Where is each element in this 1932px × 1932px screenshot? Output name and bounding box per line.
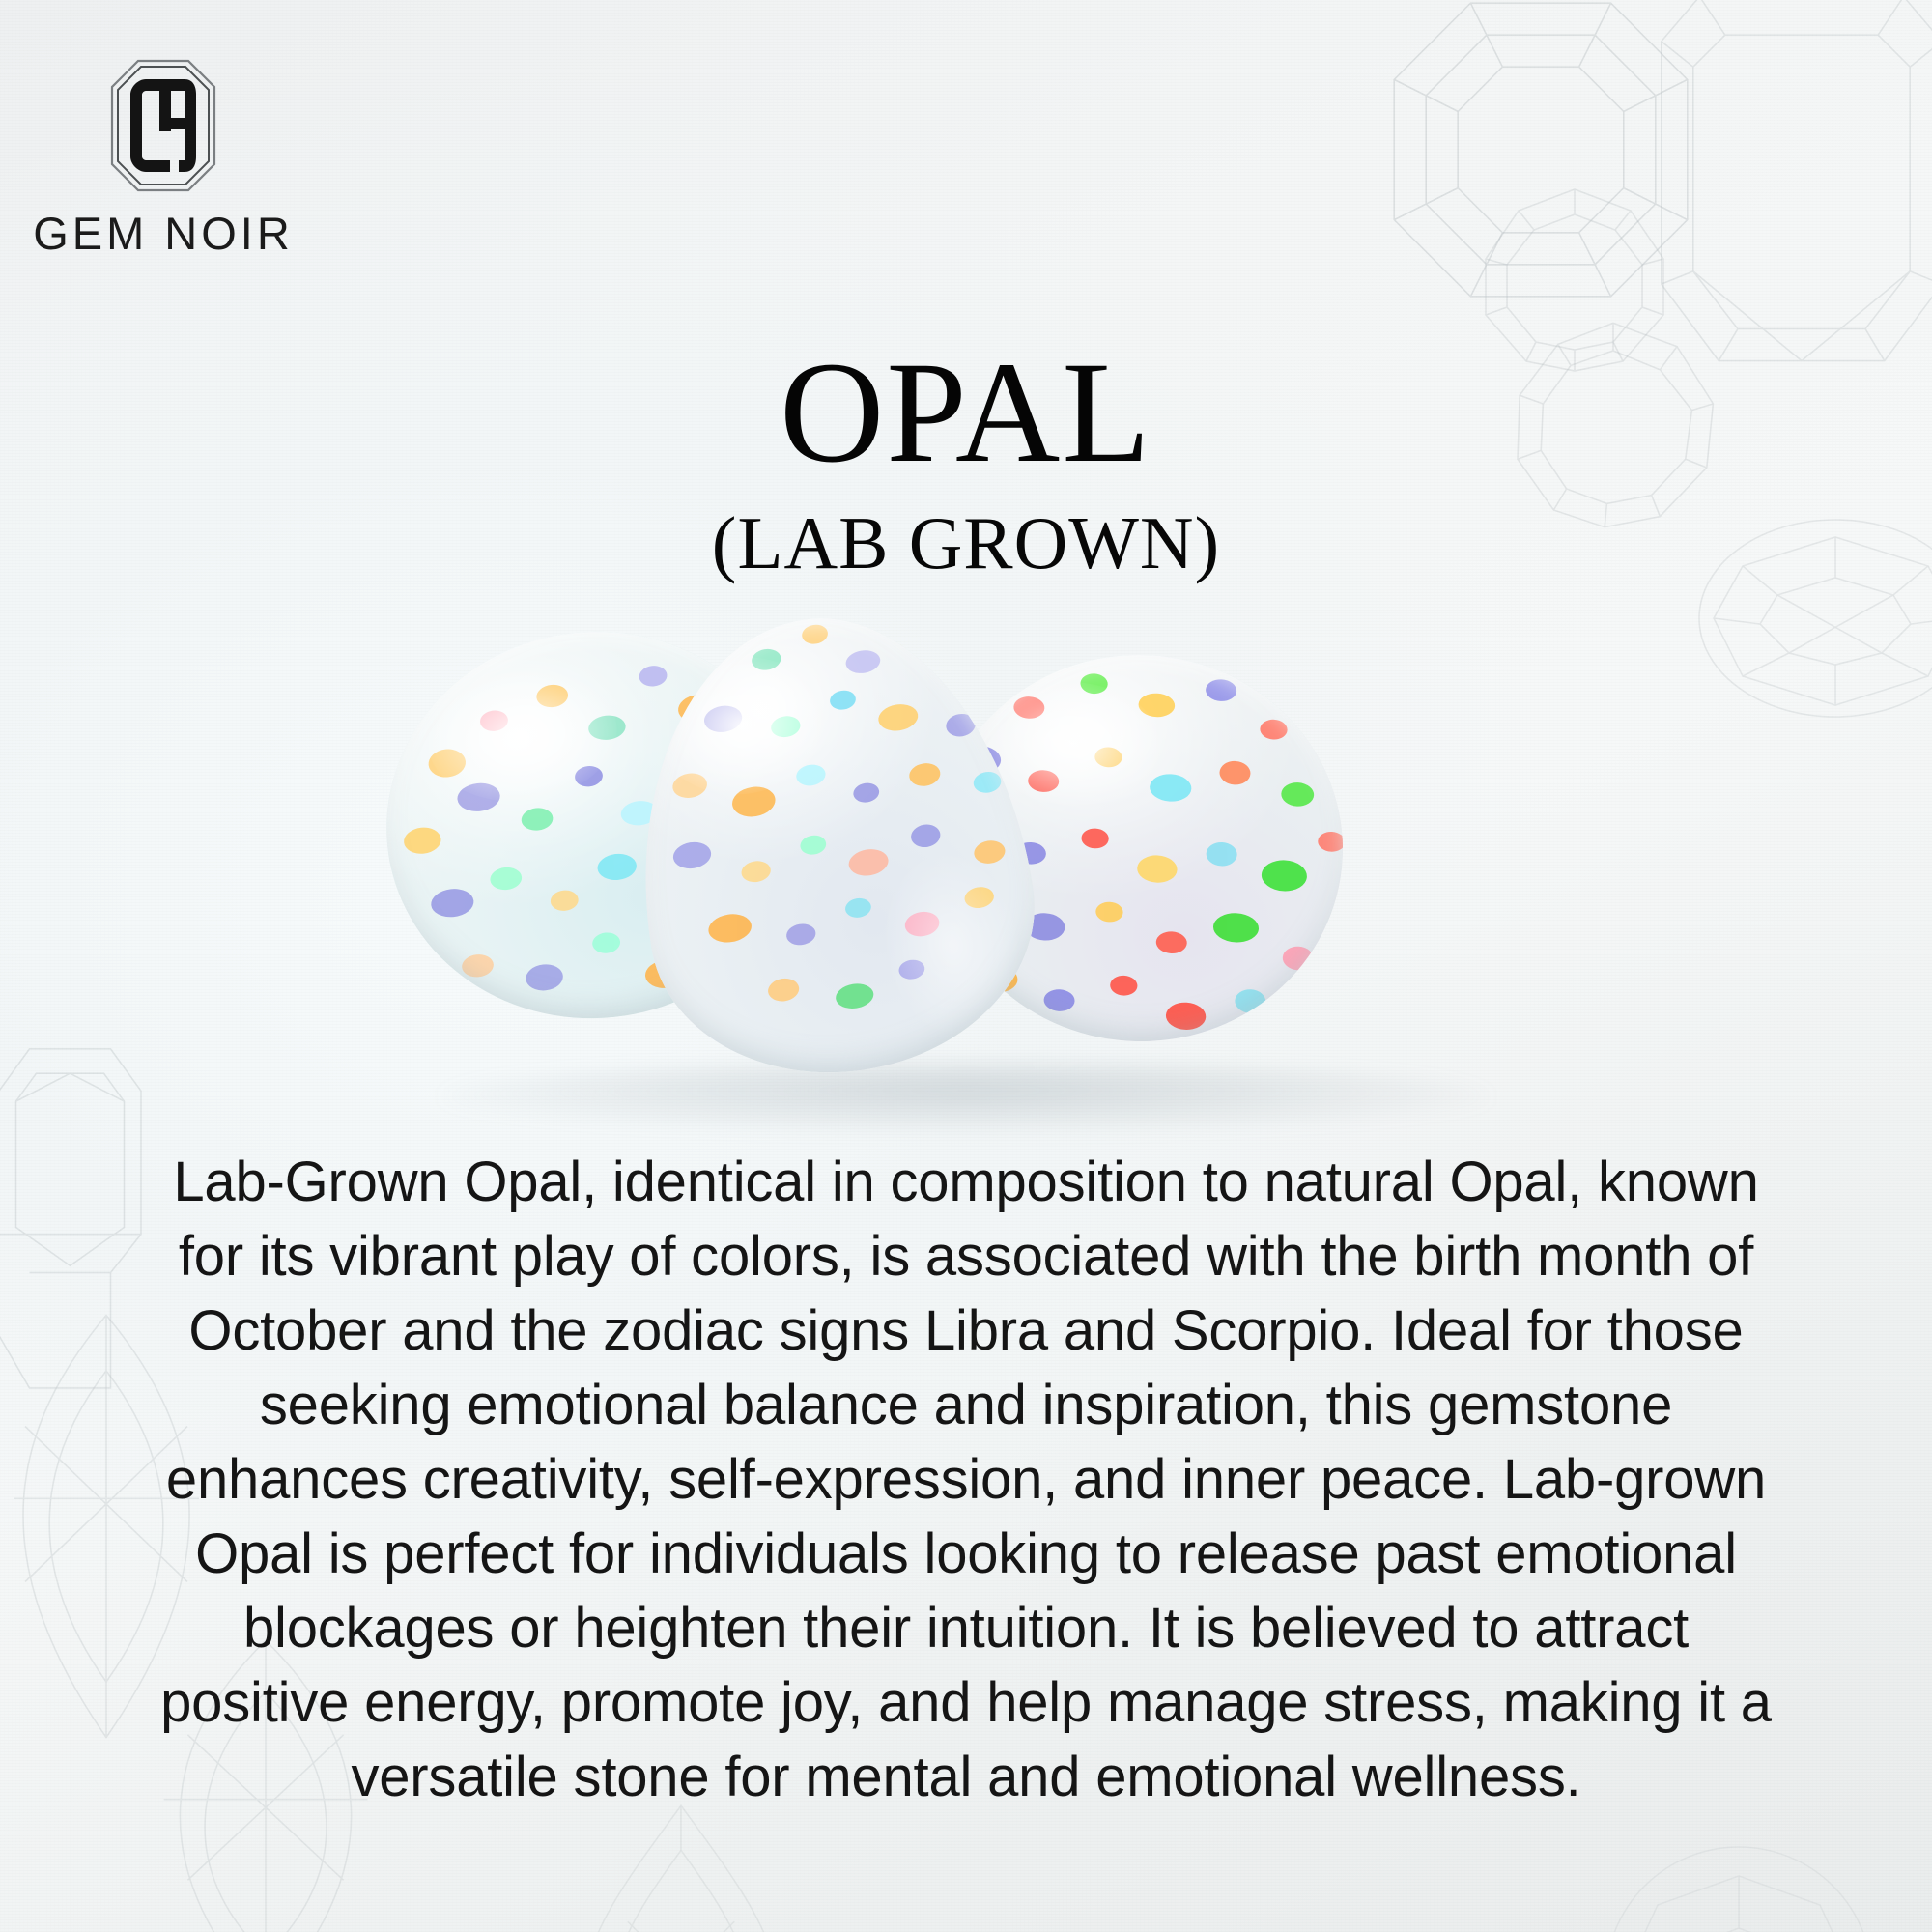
- poster-canvas: GEM NOIR OPAL (LAB GROWN): [0, 0, 1932, 1932]
- description-paragraph: Lab-Grown Opal, identical in composition…: [150, 1145, 1782, 1814]
- gemstone-shadow: [440, 1063, 1492, 1132]
- octagon-gem-outline-icon: [1381, 0, 1700, 309]
- page-title: OPAL: [0, 340, 1932, 485]
- heading-block: OPAL (LAB GROWN): [0, 340, 1932, 581]
- emerald-cut-gem-outline-icon: [1642, 0, 1932, 386]
- brand-logo: GEM NOIR: [33, 58, 294, 260]
- pear-gem-outline-icon: [570, 1797, 792, 1932]
- round-brilliant-gem-outline-icon: [1594, 1835, 1884, 1932]
- emerald-cut-gem-outline-icon: [0, 1038, 155, 1406]
- brand-name: GEM NOIR: [33, 207, 294, 260]
- gem-noir-monogram-icon: [109, 58, 217, 193]
- opal-pear-cabochon: [605, 591, 1058, 1100]
- page-subtitle: (LAB GROWN): [0, 506, 1932, 581]
- gemstone-group: [386, 618, 1565, 1130]
